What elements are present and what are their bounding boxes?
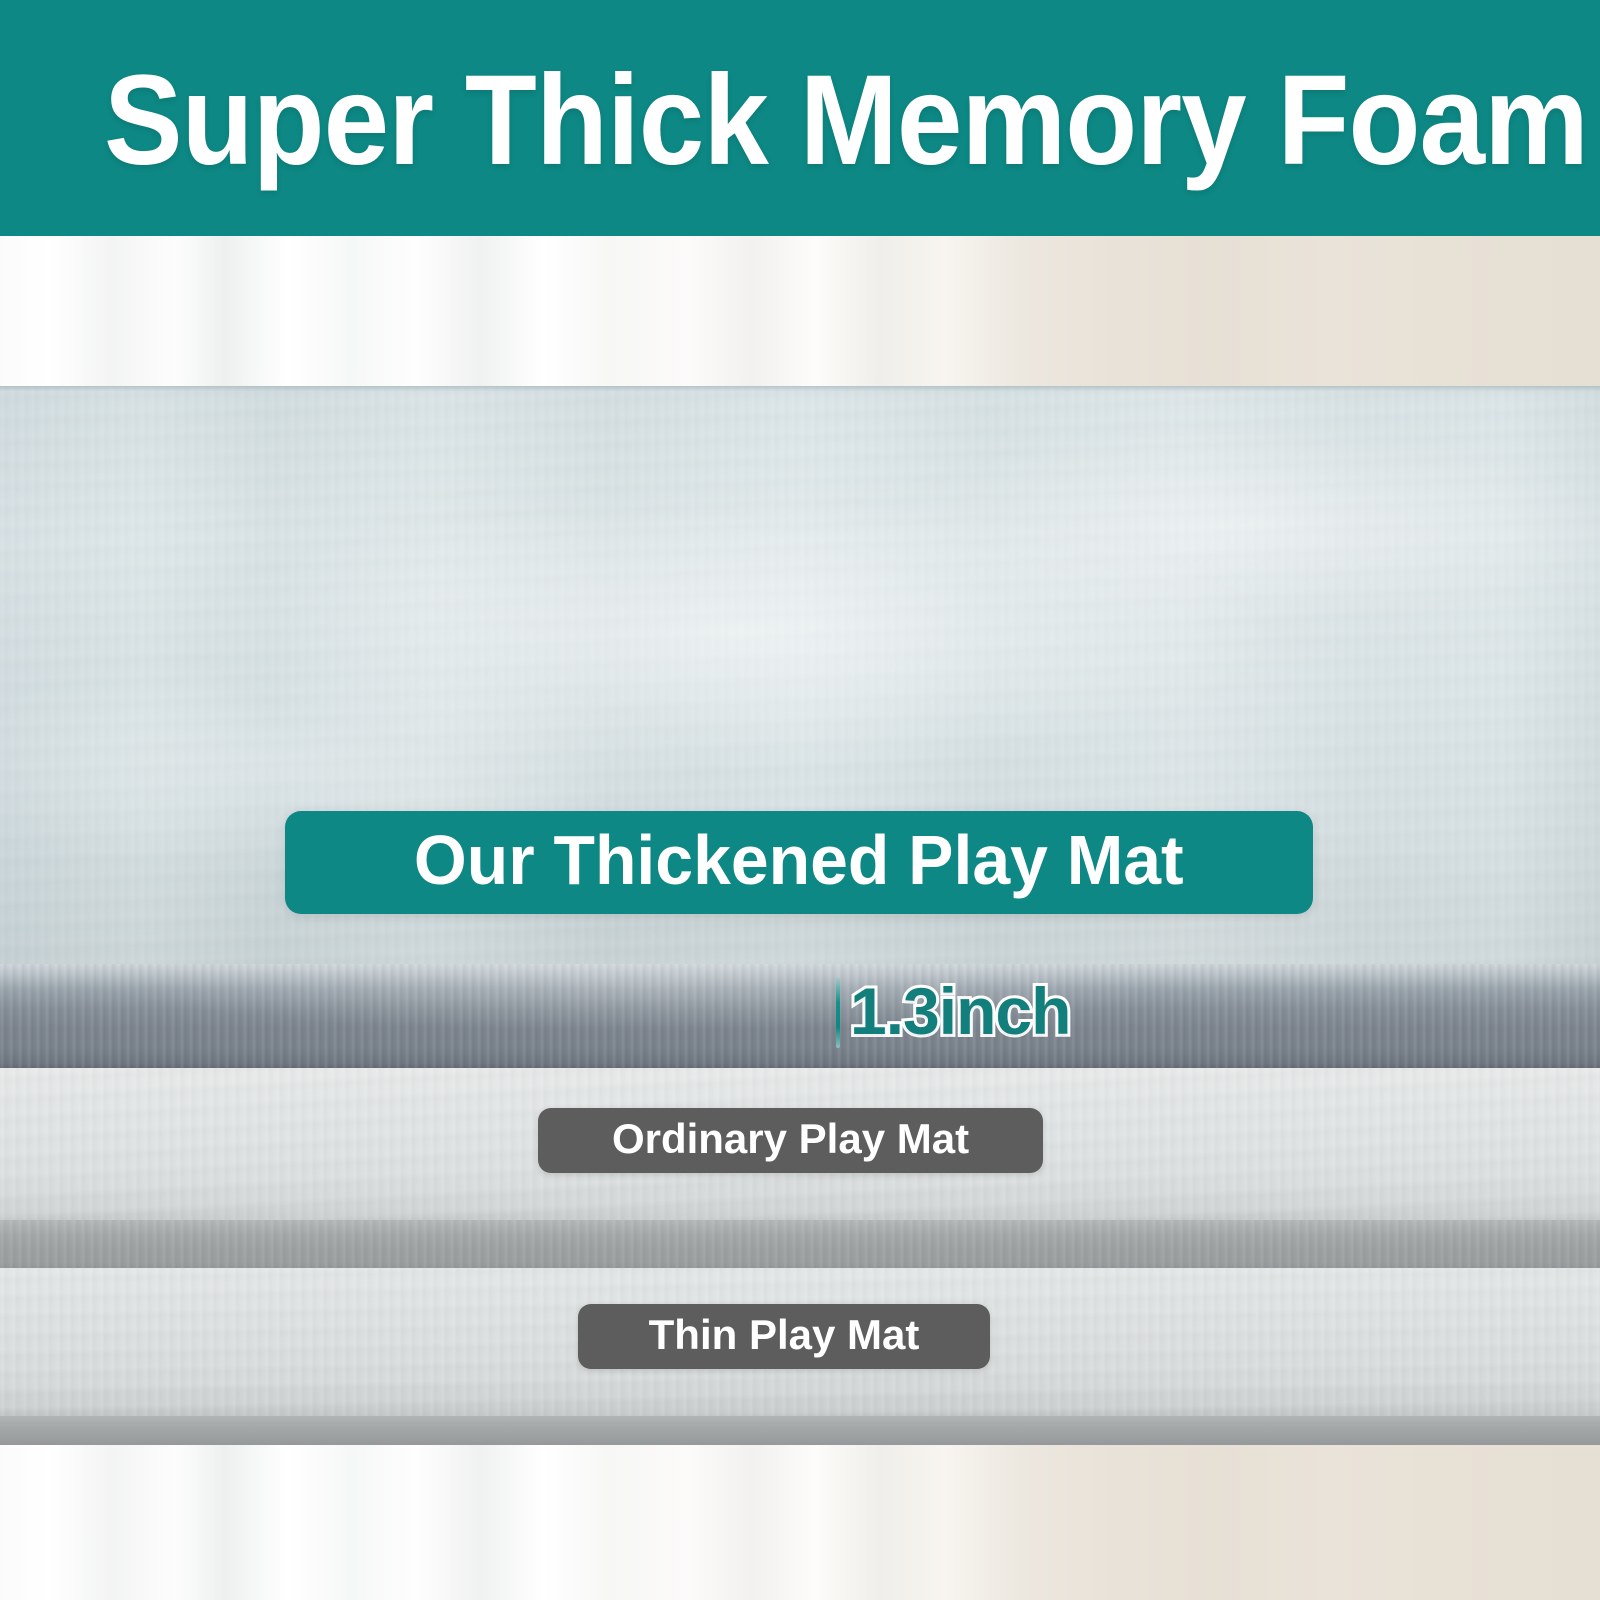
- ordinary-mat-label: Ordinary Play Mat: [538, 1108, 1043, 1173]
- thin-mat-label-text: Thin Play Mat: [649, 1311, 920, 1362]
- thick-edge-nap-texture: [0, 964, 1600, 1068]
- header-banner: Super Thick Memory Foam Mat: [0, 0, 1600, 236]
- ordinary-mat-side-edge: [0, 1220, 1600, 1268]
- thin-mat-label: Thin Play Mat: [578, 1304, 990, 1369]
- featured-product-label: Our Thickened Play Mat: [285, 811, 1313, 914]
- mat-stack-photo: [0, 386, 1600, 1446]
- thickness-measure-line-icon: [836, 978, 840, 1048]
- mat-top-edge-highlight: [0, 386, 1600, 395]
- thin-mat-side-edge: [0, 1416, 1600, 1446]
- room-background-bottom: [0, 1445, 1600, 1600]
- ordinary-edge-nap-texture: [0, 1220, 1600, 1268]
- thickened-mat-side-edge: [0, 964, 1600, 1068]
- featured-product-label-text: Our Thickened Play Mat: [414, 820, 1184, 905]
- room-background-top: [0, 236, 1600, 388]
- page-title: Super Thick Memory Foam Mat: [104, 51, 1600, 185]
- product-infographic: Super Thick Memory Foam Mat Our Thickene…: [0, 0, 1600, 1600]
- ordinary-mat-label-text: Ordinary Play Mat: [612, 1115, 969, 1166]
- thickness-callout: 1.3inch: [836, 978, 1070, 1048]
- thickness-value-text: 1.3inch: [850, 978, 1070, 1048]
